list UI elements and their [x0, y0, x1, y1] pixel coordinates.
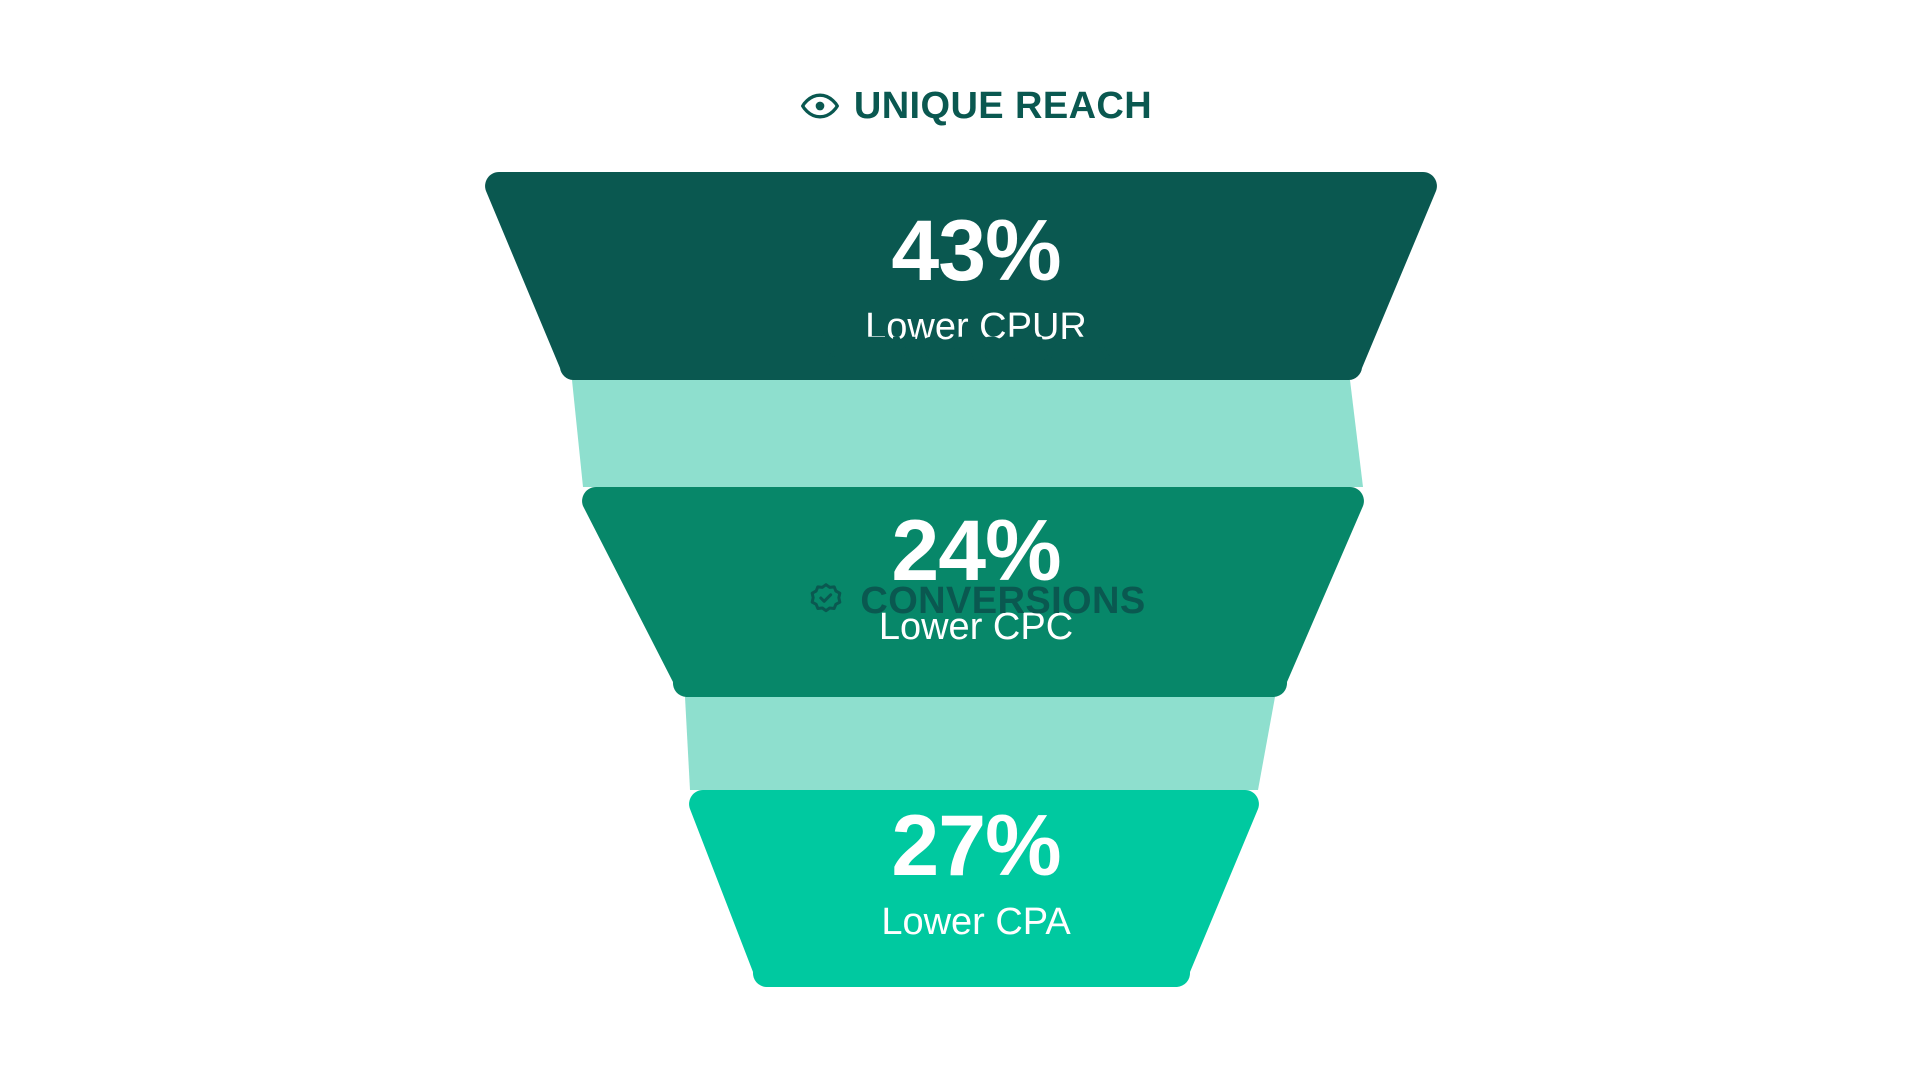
stage-label-text: CONVERSIONS: [860, 582, 1145, 620]
metric-value: 43%: [676, 208, 1276, 294]
stage-label-text: ENGAGEMENT: [865, 332, 1141, 370]
stage-label-engagement[interactable]: ENGAGEMENT: [576, 331, 1376, 371]
metric-engagement: 24% Lower CPC: [676, 508, 1276, 650]
infographic-canvas: UNIQUE REACH 43% Lower CPUR ENGAGEMENT 2…: [0, 0, 1921, 1081]
eye-icon: [800, 86, 840, 126]
tap-gesture-icon: [811, 331, 851, 371]
metric-caption: Lower CPA: [676, 901, 1276, 945]
stage-label-unique-reach[interactable]: UNIQUE REACH: [576, 86, 1376, 126]
stage-label-conversions[interactable]: CONVERSIONS: [576, 581, 1376, 621]
funnel-connector-2: [685, 697, 1275, 790]
metric-conversions: 27% Lower CPA: [676, 803, 1276, 945]
stage-label-text: UNIQUE REACH: [854, 87, 1152, 125]
funnel-connector-1: [572, 380, 1363, 487]
metric-unique-reach: 43% Lower CPUR: [676, 208, 1276, 350]
metric-value: 27%: [676, 803, 1276, 889]
verified-badge-check-icon: [806, 581, 846, 621]
